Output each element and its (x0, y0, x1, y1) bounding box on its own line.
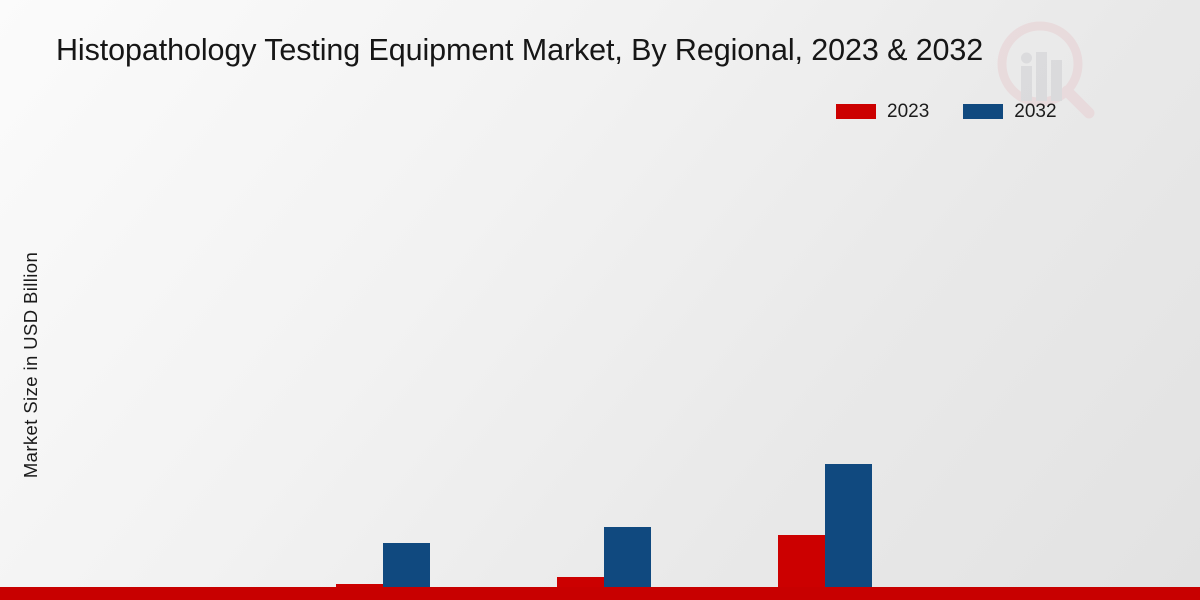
legend-label-2023: 2023 (887, 102, 929, 121)
bottom-accent-strip (0, 587, 1200, 600)
legend-swatch-2032 (963, 104, 1003, 119)
legend-swatch-2023 (836, 104, 876, 119)
chart-legend: 2023 2032 (836, 102, 1057, 121)
legend-entry-2032[interactable]: 2032 (963, 102, 1056, 121)
bar-north-america-2032[interactable] (825, 464, 872, 600)
chart-figure: Histopathology Testing Equipment Market,… (0, 0, 1200, 600)
legend-label-2032: 2032 (1014, 102, 1056, 121)
legend-entry-2023[interactable]: 2023 (836, 102, 929, 121)
y-axis-label: Market Size in USD Billion (20, 200, 42, 530)
chart-title: Histopathology Testing Equipment Market,… (56, 33, 1146, 68)
plot-area: 0.1 MEA APAC EUROPE NORTH AMERIC (46, 140, 1194, 518)
